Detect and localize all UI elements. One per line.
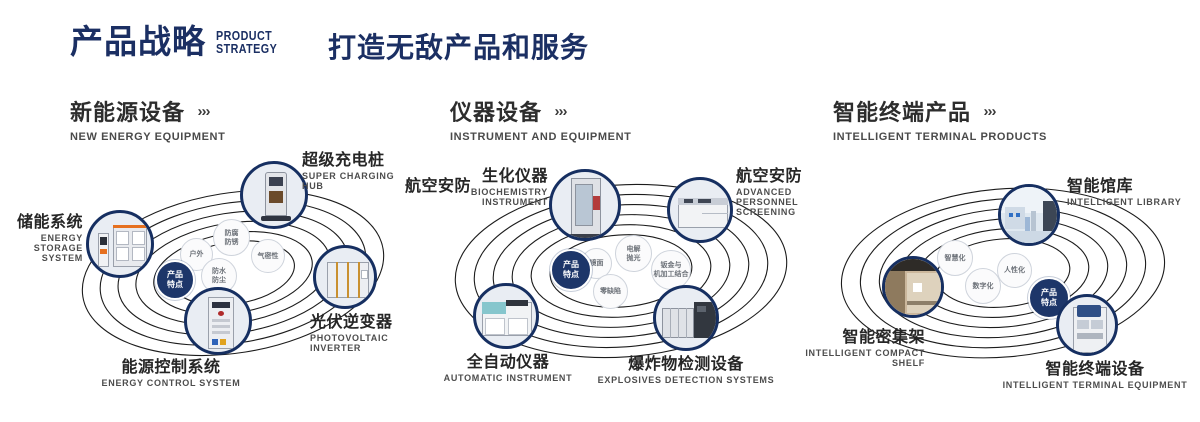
node-super-charging-hub[interactable] — [240, 161, 308, 229]
label-cn: 光伏逆变器 — [310, 313, 415, 331]
label-super-charging-hub: 超级充电桩 SUPER CHARGING HUB — [302, 151, 415, 191]
node-advanced-personnel-screening[interactable] — [667, 177, 733, 243]
cluster-intelligent-terminal: 智慧化 数字化 人性化 产品 特点 智能馆库 INTELLIGENT LIBRA… — [815, 155, 1200, 395]
intelligent-library-image — [1001, 187, 1057, 243]
node-automatic-instrument[interactable] — [473, 283, 539, 349]
label-cn: 智能密集架 — [755, 328, 925, 346]
label-en: ENERGY STORAGE SYSTEM — [0, 233, 83, 263]
label-intelligent-library: 智能馆库 INTELLIGENT LIBRARY — [1067, 177, 1181, 207]
feature-bubble-sheetmetal-machining: 钣金与 机加工结合 — [651, 250, 691, 290]
section-title-cn-intelligent-terminal: 智能终端产品 — [833, 95, 971, 127]
energy-storage-system-image — [89, 213, 151, 275]
label-en: ENERGY CONTROL SYSTEM — [71, 378, 271, 388]
node-energy-storage-system[interactable] — [86, 210, 154, 278]
photovoltaic-inverter-image — [316, 248, 374, 306]
page-title-cn: 产品战略 — [70, 25, 206, 58]
page-subtitle: 打造无敌产品和服务 — [328, 34, 589, 62]
advanced-personnel-screening-image — [670, 180, 730, 240]
label-cn: 智能终端设备 — [995, 360, 1195, 378]
node-explosives-detection-systems[interactable] — [653, 285, 719, 351]
label-en: PHOTOVOLTAIC INVERTER — [310, 333, 415, 353]
center-badge-instrument: 产品 特点 — [550, 249, 592, 291]
super-charging-hub-image — [243, 164, 305, 226]
section-title-cn-new-energy: 新能源设备 — [70, 95, 185, 127]
feature-bubble-airtight: 气密性 — [251, 239, 285, 273]
label-cn: 航空安防 — [736, 167, 815, 185]
biochemistry-instrument-image — [552, 172, 618, 238]
section-title-en-new-energy: NEW ENERGY EQUIPMENT — [70, 131, 225, 143]
feature-bubble-smart: 智慧化 — [937, 240, 973, 276]
section-heading-new-energy: 新能源设备 ››› NEW ENERGY EQUIPMENT — [70, 95, 225, 143]
label-advanced-personnel-screening: 航空安防 ADVANCED PERSONNEL SCREENING — [736, 167, 815, 217]
explosives-detection-systems-image — [656, 288, 716, 348]
poster-canvas: 产品战略 PRODUCT STRATEGY 打造无敌产品和服务 新能源设备 ››… — [0, 0, 1200, 422]
label-cn: 智能馆库 — [1067, 177, 1181, 195]
label-cn: 能源控制系统 — [71, 358, 271, 376]
label-intelligent-compact-shelf: 智能密集架 INTELLIGENT COMPACT SHELF — [755, 328, 925, 368]
intelligent-compact-shelf-image — [885, 259, 941, 315]
node-biochemistry-instrument[interactable] — [549, 169, 621, 241]
page-title: 产品战略 PRODUCT STRATEGY — [70, 25, 287, 58]
node-intelligent-library[interactable] — [998, 184, 1060, 246]
section-title-cn-instrument: 仪器设备 — [450, 95, 542, 127]
section-title-en-intelligent-terminal: INTELLIGENT TERMINAL PRODUCTS — [833, 131, 1047, 143]
label-automatic-instrument: 全自动仪器 AUTOMATIC INSTRUMENT — [413, 353, 603, 383]
section-title-en-instrument: INSTRUMENT AND EQUIPMENT — [450, 131, 631, 143]
node-photovoltaic-inverter[interactable] — [313, 245, 377, 309]
chevrons-icon: ››› — [554, 103, 566, 120]
section-heading-intelligent-terminal: 智能终端产品 ››› INTELLIGENT TERMINAL PRODUCTS — [833, 95, 1047, 143]
page-title-en-line2: STRATEGY — [216, 43, 277, 56]
cluster-new-energy: 户外 防腐 防锈 防水 防尘 气密性 产品 特点 储能系统 ENERGY STO… — [55, 155, 415, 395]
chevrons-icon: ››› — [197, 103, 209, 120]
label-energy-control-system: 能源控制系统 ENERGY CONTROL SYSTEM — [71, 358, 271, 388]
label-cn: 航空安防 — [405, 177, 471, 195]
intelligent-terminal-equipment-image — [1059, 297, 1115, 353]
label-cn: 超级充电桩 — [302, 151, 415, 169]
label-intelligent-terminal-equipment: 智能终端设备 INTELLIGENT TERMINAL EQUIPMENT — [995, 360, 1195, 390]
feature-bubble-humanized: 人性化 — [997, 253, 1032, 288]
label-photovoltaic-inverter: 光伏逆变器 PHOTOVOLTAIC INVERTER — [310, 313, 415, 353]
page-title-en: PRODUCT STRATEGY — [216, 30, 277, 56]
label-en: INTELLIGENT LIBRARY — [1067, 197, 1181, 207]
feature-bubble-digital: 数字化 — [965, 268, 1001, 304]
node-energy-control-system[interactable] — [184, 287, 252, 355]
label-en: SUPER CHARGING HUB — [302, 171, 415, 191]
label-cn: 储能系统 — [0, 213, 83, 231]
label-en: INTELLIGENT COMPACT SHELF — [755, 348, 925, 368]
label-en: EXPLOSIVES DETECTION SYSTEMS — [576, 375, 796, 385]
automatic-instrument-image — [476, 286, 536, 346]
label-energy-storage-system: 储能系统 ENERGY STORAGE SYSTEM — [0, 213, 83, 263]
section-heading-instrument: 仪器设备 ››› INSTRUMENT AND EQUIPMENT — [450, 95, 631, 143]
label-en: INTELLIGENT TERMINAL EQUIPMENT — [995, 380, 1195, 390]
label-aviation-security-overlay: 航空安防 — [405, 177, 471, 195]
label-en: ADVANCED PERSONNEL SCREENING — [736, 187, 815, 217]
feature-bubble-electropolishing: 电解 抛光 — [615, 235, 652, 272]
label-cn: 全自动仪器 — [413, 353, 603, 371]
label-en: AUTOMATIC INSTRUMENT — [413, 373, 603, 383]
node-intelligent-compact-shelf[interactable] — [882, 256, 944, 318]
node-intelligent-terminal-equipment[interactable] — [1056, 294, 1118, 356]
chevrons-icon: ››› — [983, 103, 995, 120]
energy-control-system-image — [187, 290, 249, 352]
feature-bubble-zero-defect: 零缺陷 — [593, 274, 628, 309]
